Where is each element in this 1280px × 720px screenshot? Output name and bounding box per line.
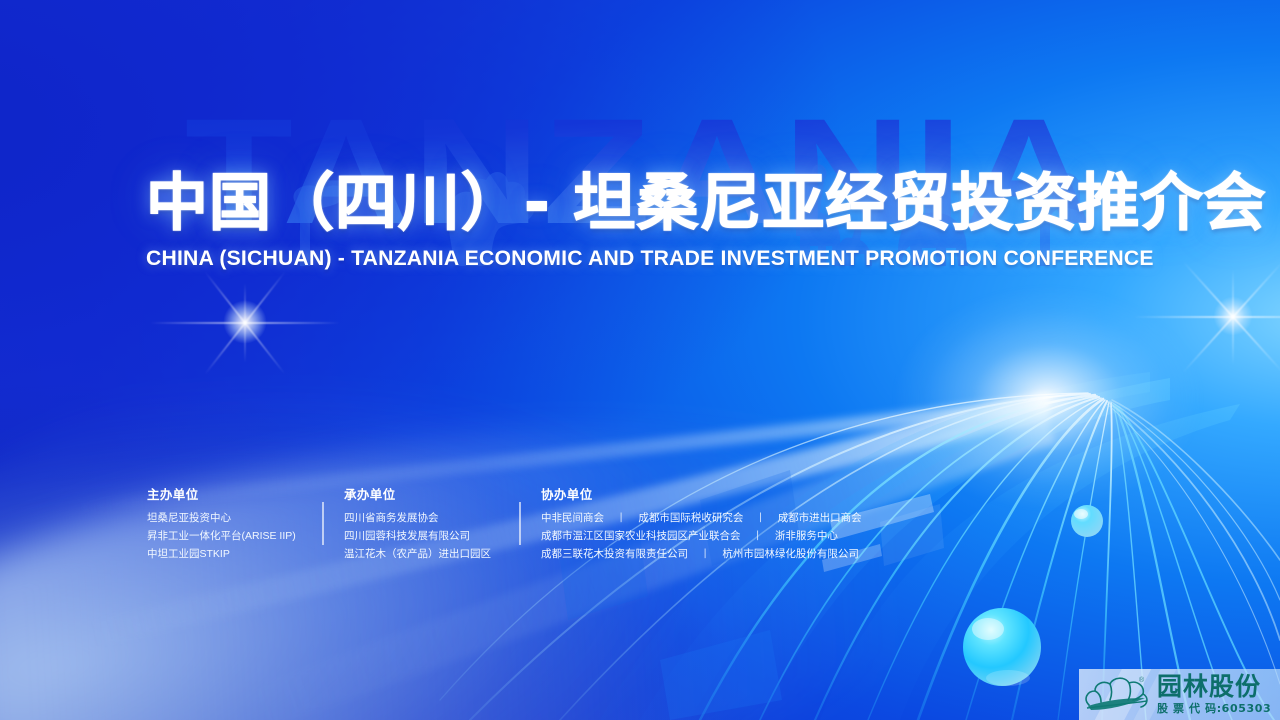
organizer-entry: 昇非工业一体化平台(ARISE IIP) xyxy=(147,527,322,545)
organizer-heading: 承办单位 xyxy=(344,484,519,503)
light-convergence-glow xyxy=(868,268,1228,528)
entry-separator: 丨 xyxy=(743,527,772,545)
entry-separator: 丨 xyxy=(746,509,775,527)
organizer-entry: 浙非服务中心 xyxy=(775,530,838,542)
sphere-large xyxy=(963,608,1041,686)
column-divider xyxy=(322,502,324,545)
organizer-entry: 四川省商务发展协会 xyxy=(344,509,519,527)
organizer-entry: 坦桑尼亚投资中心 xyxy=(147,509,322,527)
sponsor-stock-code: 股 票 代 码:605303 xyxy=(1157,702,1280,715)
organizer-entry: 成都市进出口商会 xyxy=(778,512,862,524)
organizer-entry: 杭州市园林绿化股份有限公司 xyxy=(722,548,859,560)
entry-separator: 丨 xyxy=(691,545,720,563)
organizer-column-host: 主办单位 坦桑尼亚投资中心 昇非工业一体化平台(ARISE IIP) 中坦工业园… xyxy=(147,484,322,563)
conference-title-chinese: 中国（四川）- 坦桑尼亚经贸投资推介会 xyxy=(146,168,1146,238)
organizer-entry: 温江花木（农产品）进出口园区 xyxy=(344,545,519,563)
organizer-entry: 成都三联花木投资有限责任公司 xyxy=(541,548,688,560)
organizer-heading: 主办单位 xyxy=(147,484,322,503)
organizer-columns: 主办单位 坦桑尼亚投资中心 昇非工业一体化平台(ARISE IIP) 中坦工业园… xyxy=(147,484,831,563)
sponsor-logo-badge[interactable]: ® 园林股份 股 票 代 码:605303 xyxy=(1079,669,1280,720)
organizer-entry-row: 成都三联花木投资有限责任公司 丨 杭州市园林绿化股份有限公司 xyxy=(541,545,831,563)
column-divider xyxy=(519,502,521,545)
entry-separator: 丨 xyxy=(607,509,636,527)
organizer-entry: 成都市温江区国家农业科技园区产业联合会 xyxy=(541,530,741,542)
title-block: 中国（四川）- 坦桑尼亚经贸投资推介会 CHINA (SICHUAN) - TA… xyxy=(146,168,1146,271)
organizer-entry-row: 中非民间商会 丨 成都市国际税收研究会 丨 成都市进出口商会 xyxy=(541,509,831,527)
organizer-heading: 协办单位 xyxy=(541,484,831,503)
sponsor-name: 园林股份 xyxy=(1157,674,1280,699)
organizer-entry-row: 成都市温江区国家农业科技园区产业联合会 丨 浙非服务中心 xyxy=(541,527,831,545)
organizer-entry: 中非民间商会 xyxy=(541,512,604,524)
registered-mark: ® xyxy=(1139,677,1144,684)
organizer-entry: 成都市国际税收研究会 xyxy=(638,512,743,524)
poster-canvas: TANZANIA xyxy=(0,0,1280,720)
organizer-column-coorganizer: 协办单位 中非民间商会 丨 成都市国际税收研究会 丨 成都市进出口商会 成都市温… xyxy=(519,484,831,563)
sponsor-logo-text: 园林股份 股 票 代 码:605303 xyxy=(1155,674,1280,715)
garden-tree-logo-icon: ® xyxy=(1079,671,1155,719)
organizer-column-undertaker: 承办单位 四川省商务发展协会 四川园蓉科技发展有限公司 温江花木（农产品）进出口… xyxy=(322,484,519,563)
organizer-entry: 四川园蓉科技发展有限公司 xyxy=(344,527,519,545)
organizer-entry: 中坦工业园STKIP xyxy=(147,545,322,563)
conference-title-english: CHINA (SICHUAN) - TANZANIA ECONOMIC AND … xyxy=(146,246,1131,271)
